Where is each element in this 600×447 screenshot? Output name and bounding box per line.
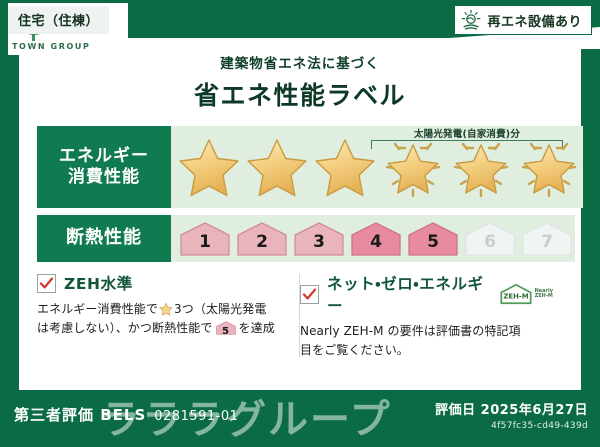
energy-row-label-line2: 消費性能	[68, 167, 140, 188]
insulation-level-number: 3	[291, 232, 347, 252]
star-6-solar	[515, 126, 583, 208]
nzeb-desc-line1: Nearly ZEH-M の要件は評価書の特記項	[300, 324, 521, 338]
bels-evaluation-line: 第三者評価 BELS 0281591-01	[14, 404, 238, 425]
zeh-description: エネルギー消費性能で3つ（太陽光発電は考慮しない）、かつ断熱性能で5を達成	[37, 300, 290, 337]
insulation-level-number: 6	[462, 232, 518, 252]
insulation-level-number: 1	[177, 232, 233, 252]
criterion-zeh-header: ZEH水準	[37, 272, 290, 294]
star-icon	[449, 136, 513, 198]
renewable-equipment-badge: 再エネ設備あり	[454, 5, 592, 35]
building-type-tag: 住宅（住棟）	[8, 6, 109, 34]
insulation-level-3: 3	[291, 219, 347, 259]
label-footer: 第三者評価 BELS 0281591-01 評価日 2025年6月27日 4f5…	[0, 390, 600, 447]
inline-house-number: 5	[215, 324, 237, 340]
energy-row-label: エネルギー 消費性能	[37, 126, 171, 208]
zeh-desc-part-b: 3つ（太陽光発電	[174, 302, 266, 316]
insulation-level-scale: 1 2 3	[171, 219, 575, 259]
check-icon	[39, 276, 54, 291]
energy-row-body: 太陽光発電(自家消費)分	[171, 126, 583, 208]
zeh-desc-part-a: エネルギー消費性能で	[37, 302, 158, 316]
insulation-level-1: 1	[177, 219, 233, 259]
evaluation-meta: 評価日 2025年6月27日 4f57fc35-cd49-439d	[435, 399, 588, 431]
star-2	[243, 126, 311, 208]
star-rating	[171, 126, 583, 208]
bels-label: 第三者評価 BELS	[14, 404, 146, 425]
star-icon	[381, 136, 445, 198]
star-icon	[177, 136, 241, 198]
bels-number: 0281591-01	[154, 409, 238, 424]
insulation-level-number: 5	[405, 232, 461, 252]
town-group-text: TOWN GROUP	[12, 42, 90, 51]
page-title: 省エネ性能ラベル	[19, 76, 581, 112]
zeh-checkbox[interactable]	[37, 274, 56, 293]
title-subtitle: 建築物省エネ法に基づく	[19, 52, 581, 72]
label-card: 建築物省エネ法に基づく 省エネ性能ラベル エネルギー 消費性能 太陽光発電(自家…	[19, 38, 581, 390]
zeh-title: ZEH水準	[64, 272, 133, 294]
insulation-level-5: 5	[405, 219, 461, 259]
criterion-zeh: ZEH水準 エネルギー消費性能で3つ（太陽光発電は考慮しない）、かつ断熱性能で5…	[37, 272, 300, 359]
insulation-level-number: 7	[519, 232, 575, 252]
zeh-m-house-icon: ZEH-M	[499, 282, 533, 306]
star-icon	[159, 302, 173, 316]
insulation-performance-row: 断熱性能 1 2	[37, 215, 563, 262]
star-3	[311, 126, 379, 208]
criterion-nzeb-header: ネット・ゼロ・エネルギー ZEH-M Nearly ZEH-M	[300, 272, 553, 316]
nzeb-title: ネット・ゼロ・エネルギー	[327, 272, 485, 316]
insulation-row-body: 1 2 3	[171, 215, 575, 262]
star-1	[175, 126, 243, 208]
criterion-nzeb: ネット・ゼロ・エネルギー ZEH-M Nearly ZEH-M Nearly Z…	[300, 272, 563, 359]
nzeb-desc-line2: 目をご覧ください。	[300, 343, 409, 357]
nzeb-description: Nearly ZEH-M の要件は評価書の特記項目をご覧ください。	[300, 322, 553, 359]
zeh-desc-part-c: は考慮しない）、かつ断熱性能で	[37, 321, 213, 335]
evaluation-date: 評価日 2025年6月27日	[435, 399, 588, 418]
insulation-level-7: 7	[519, 219, 575, 259]
nzeb-checkbox[interactable]	[300, 285, 319, 304]
insulation-level-2: 2	[234, 219, 290, 259]
energy-row-label-line1: エネルギー	[59, 146, 149, 167]
star-icon	[313, 136, 377, 198]
rating-rows: エネルギー 消費性能 太陽光発電(自家消費)分	[37, 126, 563, 262]
insulation-level-number: 4	[348, 232, 404, 252]
zeh-desc-part-d: を達成	[239, 321, 275, 335]
energy-performance-row: エネルギー 消費性能 太陽光発電(自家消費)分	[37, 126, 563, 208]
renewable-badge-label: 再エネ設備あり	[487, 11, 582, 30]
insulation-level-number: 2	[234, 232, 290, 252]
energy-performance-label: 住宅（住棟） 再エネ設備あり 建築物省エネ法に基づく 省エネ性能ラベル	[0, 0, 600, 447]
check-icon	[302, 287, 317, 302]
insulation-level-4: 4	[348, 219, 404, 259]
insulation-row-label: 断熱性能	[37, 215, 171, 262]
zeh-m-logo-sub2: ZEH-M	[535, 294, 553, 299]
star-icon	[517, 136, 581, 198]
star-icon	[245, 136, 309, 198]
zeh-m-logo: ZEH-M Nearly ZEH-M	[499, 282, 553, 306]
sun-solar-icon	[460, 9, 482, 31]
inline-house-badge: 5	[215, 320, 237, 336]
svg-text:ZEH-M: ZEH-M	[503, 293, 528, 301]
star-4-solar	[379, 126, 447, 208]
evaluation-hash: 4f57fc35-cd49-439d	[435, 421, 588, 431]
insulation-level-6: 6	[462, 219, 518, 259]
star-5-solar	[447, 126, 515, 208]
criteria-section: ZEH水準 エネルギー消費性能で3つ（太陽光発電は考慮しない）、かつ断熱性能で5…	[37, 272, 563, 359]
